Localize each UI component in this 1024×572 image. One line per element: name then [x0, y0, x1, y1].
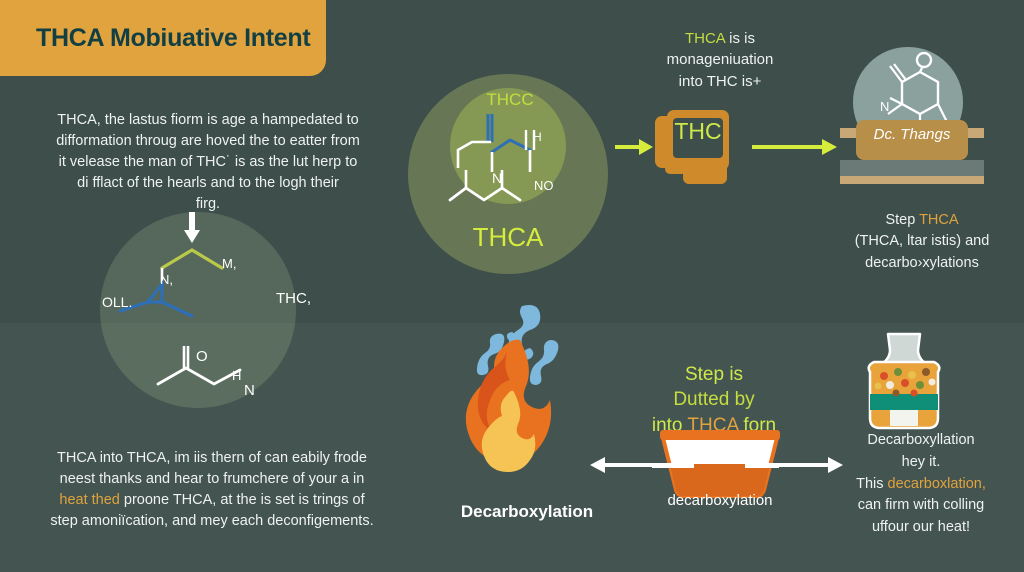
rt-line-1: THCA is is: [620, 28, 820, 49]
thca-label-no2: NO: [534, 178, 554, 193]
flame-label: Decarboxylation: [452, 502, 602, 522]
rb-line-1: Decarboxyllation: [822, 430, 1020, 452]
left-label-o: O: [196, 348, 208, 365]
thca-big-label: THCA: [438, 222, 578, 253]
thc-icon: THC: [653, 110, 741, 188]
jar-icon: [852, 332, 956, 434]
tray-rim: [660, 430, 780, 440]
jar-label: [890, 410, 918, 426]
thc-icon-shape-d: [683, 158, 727, 184]
intro-line-3: it velease the man of THC˙ is as the lut…: [28, 152, 388, 173]
rs-line-3: decarbo›xylations: [824, 253, 1020, 274]
rs-highlight-thca: THCA: [919, 212, 958, 228]
thca-molecule-diagram: [440, 100, 590, 220]
rt-line-2: monageniuation: [620, 49, 820, 70]
left-label-oll: OLL.: [102, 294, 132, 310]
left-label-h: H: [232, 368, 241, 383]
bl-line-1: THCA into THCA, im iis thern of can eabi…: [34, 448, 390, 469]
bl-line-3-rest: proone THCA, at the is set is trings of: [120, 492, 365, 508]
thc-icon-label: THC: [665, 118, 731, 145]
tray-caption: decarboxylation: [630, 492, 810, 509]
rb-highlight-decarboxlation: decarboxlation,: [888, 476, 986, 492]
intro-line-4: di fflact of the hearls and to the logh …: [28, 173, 388, 194]
left-label-m: M,: [222, 256, 236, 271]
right-step-paragraph: Step THCA (THCA, ltar istis) and decarbo…: [824, 210, 1020, 274]
arrow-line: [604, 463, 662, 467]
rt-line-1-rest: is is: [725, 30, 755, 47]
dish-shadow-band: [840, 160, 984, 176]
jar-band: [870, 394, 938, 410]
bottom-left-paragraph: THCA into THCA, im iis thern of can eabi…: [34, 448, 390, 532]
bl-line-4: step amoniïcation, and mey each deconfig…: [34, 511, 390, 532]
down-arrow-icon: [184, 212, 200, 243]
thca-label-n: N: [492, 170, 502, 186]
rt-line-3: into THC is+: [620, 71, 820, 92]
rb-line-2: hey it.: [822, 452, 1020, 474]
flame-graphic: Decarboxylation: [452, 300, 602, 540]
rs-line-1: Step THCA: [824, 210, 1020, 231]
left-label-thc: THC,: [276, 290, 311, 307]
rs-line-2: (THCA, ltar istis) and: [824, 231, 1020, 252]
left-label-n: N,: [160, 272, 173, 287]
page-title: THCA Mobiuative Intent: [36, 24, 310, 53]
arrow-line: [615, 145, 641, 149]
arrow-head: [639, 139, 653, 155]
bl-line-3: heat thed proone THCA, at the is set is …: [34, 490, 390, 511]
jar-graphic: [852, 332, 956, 434]
jar-neck: [882, 334, 926, 364]
dish-label: Dc. Thangs: [860, 126, 964, 143]
intro-paragraph: THCA, the lastus fiorm is age a hampedat…: [28, 110, 388, 215]
dish-label-n: N: [880, 99, 889, 114]
rb-line-5: uffour our heat!: [822, 517, 1020, 539]
rb-line-3: This decarboxlation,: [822, 474, 1020, 496]
arrow-head: [822, 139, 837, 155]
ms-line-1: Step is: [608, 362, 820, 387]
rt-highlight-thca: THCA: [685, 30, 725, 47]
intro-line-2: difformation throug are hoved the to eat…: [28, 131, 388, 152]
right-bottom-paragraph: Decarboxyllation hey it. This decarboxla…: [822, 430, 1020, 539]
right-top-paragraph: THCA is is monageniuation into THC is+: [620, 28, 820, 92]
left-molecule-diagram: [100, 206, 300, 416]
bl-highlight-heat-thed: heat thed: [59, 492, 119, 508]
rb-line-3-prefix: This: [856, 476, 887, 492]
intro-line-1: THCA, the lastus fiorm is age a hampedat…: [28, 110, 388, 131]
rs-line-1-prefix: Step: [885, 212, 919, 228]
left-label-n2: N: [244, 382, 255, 399]
arrow-head: [590, 457, 605, 473]
rb-line-4: can firm with colling: [822, 495, 1020, 517]
arrow-line: [752, 145, 824, 149]
title-bar: THCA Mobiuative Intent: [0, 0, 326, 76]
infographic-canvas: THCA Mobiuative Intent THCA, the lastus …: [0, 0, 1024, 572]
thca-label-h2: H: [533, 130, 542, 144]
bl-line-2: neest thanks and hear to frumchere of yo…: [34, 469, 390, 490]
flame-icon: [452, 300, 602, 500]
ms-line-2: Dutted by: [608, 387, 820, 412]
dish-plate-lower: [840, 176, 984, 184]
